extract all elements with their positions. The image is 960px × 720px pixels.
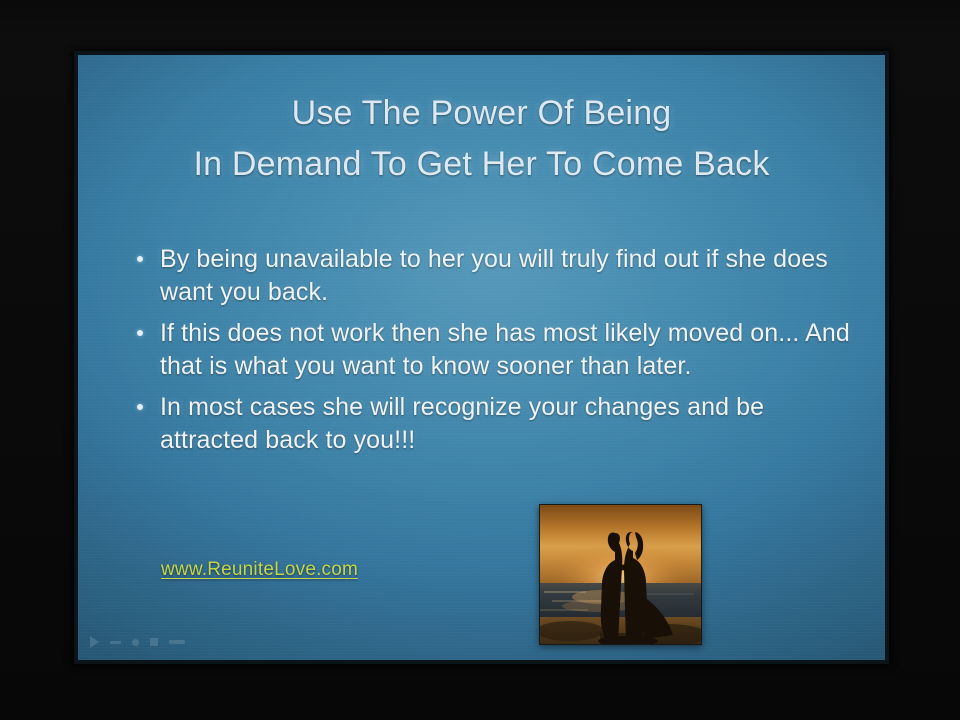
play-icon[interactable] [90, 636, 99, 648]
volume-bar-icon[interactable] [169, 640, 185, 644]
title-line-1: Use The Power Of Being [118, 88, 845, 139]
progress-bar-icon[interactable] [110, 641, 121, 644]
list-item-text: By being unavailable to her you will tru… [160, 245, 828, 306]
list-item: By being unavailable to her you will tru… [130, 243, 852, 309]
video-player-frame: Use The Power Of Being In Demand To Get … [0, 0, 960, 720]
slide-body-bullet-list: By being unavailable to her you will tru… [130, 243, 852, 465]
time-dot-icon[interactable] [132, 639, 139, 646]
bullet-point-icon [137, 404, 143, 410]
bullet-point-icon [137, 330, 143, 336]
list-item-text: If this does not work then she has most … [160, 319, 850, 380]
bullet-point-icon [137, 256, 143, 262]
website-link[interactable]: www.ReuniteLove.com [161, 559, 358, 580]
couple-sunset-illustration [540, 505, 701, 644]
list-item: In most cases she will recognize your ch… [130, 391, 852, 457]
couple-sunset-photo [539, 504, 702, 645]
stop-icon[interactable] [150, 638, 158, 646]
website-link-row: www.ReuniteLove.com [161, 558, 358, 582]
slide-title: Use The Power Of Being In Demand To Get … [118, 88, 845, 190]
list-item: If this does not work then she has most … [130, 317, 852, 383]
title-line-2: In Demand To Get Her To Come Back [118, 139, 845, 190]
screenshot-root: Use The Power Of Being In Demand To Get … [0, 0, 960, 720]
player-control-bar[interactable] [90, 636, 185, 648]
presentation-slide: Use The Power Of Being In Demand To Get … [78, 55, 885, 660]
list-item-text: In most cases she will recognize your ch… [160, 393, 764, 454]
